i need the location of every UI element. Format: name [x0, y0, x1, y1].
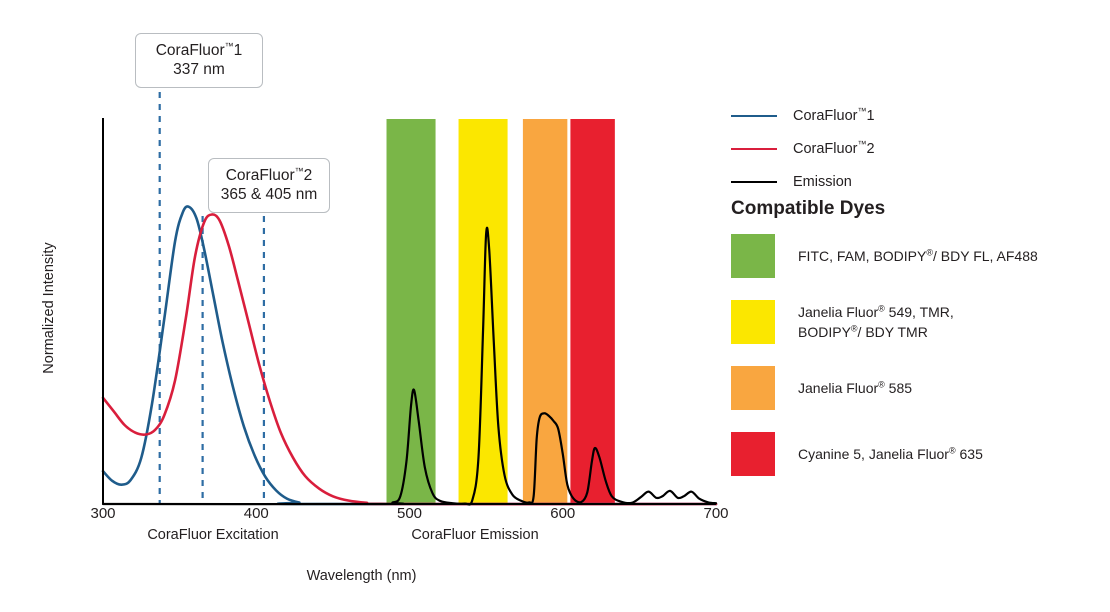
callout1-line2: 337 nm: [146, 60, 252, 79]
x-tick-500: 500: [380, 505, 440, 522]
x-tick-400: 400: [226, 505, 286, 522]
dye-label: Janelia Fluor® 585: [798, 378, 912, 398]
x-axis-label: Wavelength (nm): [0, 568, 723, 584]
dye-item-0[interactable]: FITC, FAM, BODIPY®/ BDY FL, AF488: [731, 234, 1106, 278]
legend-item-0[interactable]: CoraFluor™1: [731, 108, 1101, 124]
callout1-line1: CoraFluor™1: [146, 41, 252, 60]
dye-item-2[interactable]: Janelia Fluor® 585: [731, 366, 1106, 410]
x-tick-300: 300: [73, 505, 133, 522]
compatible-dyes-list: FITC, FAM, BODIPY®/ BDY FL, AF488Janelia…: [731, 234, 1106, 498]
dye-label: Cyanine 5, Janelia Fluor® 635: [798, 444, 983, 464]
dye-label: FITC, FAM, BODIPY®/ BDY FL, AF488: [798, 246, 1038, 266]
green-band: [387, 119, 436, 504]
callout2-line2: 365 & 405 nm: [219, 185, 319, 204]
x-tick-700: 700: [686, 505, 746, 522]
compatible-dyes-title: Compatible Dyes: [731, 198, 885, 220]
legend-line-swatch: [731, 181, 777, 183]
y-axis-label: Normalized Intensity: [41, 223, 57, 393]
callout-corafluor2: CoraFluor™2 365 & 405 nm: [208, 158, 330, 213]
legend-label: CoraFluor™2: [793, 141, 875, 157]
legend-label: CoraFluor™1: [793, 108, 875, 124]
legend-line-swatch: [731, 148, 777, 150]
dye-color-swatch: [731, 366, 775, 410]
callout-corafluor1: CoraFluor™1 337 nm: [135, 33, 263, 88]
excitation-region-label: CoraFluor Excitation: [93, 527, 333, 543]
x-tick-600: 600: [533, 505, 593, 522]
legend-item-2[interactable]: Emission: [731, 174, 1101, 190]
legend-line-swatch: [731, 115, 777, 117]
legend-item-1[interactable]: CoraFluor™2: [731, 141, 1101, 157]
dye-item-3[interactable]: Cyanine 5, Janelia Fluor® 635: [731, 432, 1106, 476]
dye-item-1[interactable]: Janelia Fluor® 549, TMR,BODIPY®/ BDY TMR: [731, 300, 1106, 344]
callout2-line1: CoraFluor™2: [219, 166, 319, 185]
dye-color-swatch: [731, 432, 775, 476]
dye-color-swatch: [731, 300, 775, 344]
red-band: [570, 119, 614, 504]
emission-region-label: CoraFluor Emission: [355, 527, 595, 543]
dye-color-swatch: [731, 234, 775, 278]
legend-label: Emission: [793, 174, 852, 190]
dye-label: Janelia Fluor® 549, TMR,BODIPY®/ BDY TMR: [798, 302, 954, 343]
series-legend: CoraFluor™1CoraFluor™2Emission: [731, 108, 1101, 207]
